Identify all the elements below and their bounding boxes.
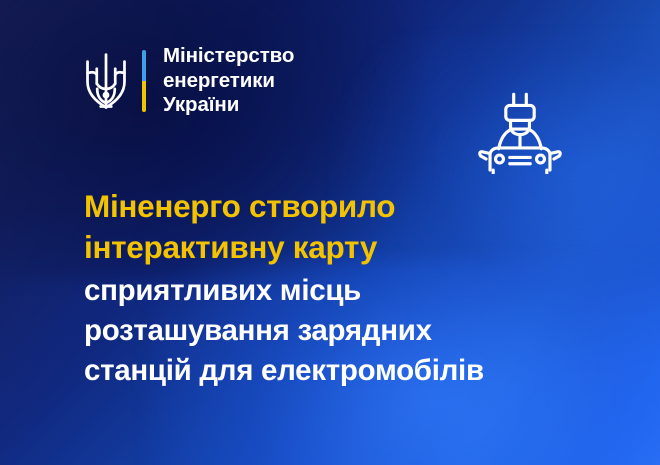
ministry-name-line-1: Міністерство xyxy=(163,44,294,67)
logo-divider-bar xyxy=(142,50,146,112)
electric-car-plug-icon xyxy=(472,92,568,174)
ministry-logo-lockup: МіністерствоенергетикиУкраїни xyxy=(84,44,294,118)
headline-body-line-2: розташування зарядних xyxy=(84,311,604,351)
headline-highlight-line-1: Міненерго створило xyxy=(84,186,604,227)
poster-canvas: МіністерствоенергетикиУкраїни xyxy=(0,0,660,465)
ukrainian-trident-icon xyxy=(84,51,128,111)
headline-body-line-3: станцій для електромобілів xyxy=(84,351,604,391)
ministry-name-line-2: енергетики xyxy=(163,69,275,92)
headline-block: Міненерго створило інтерактивну карту сп… xyxy=(84,186,604,391)
ministry-name-line-3: України xyxy=(163,93,239,116)
headline-highlight-line-2: інтерактивну карту xyxy=(84,227,604,268)
ministry-name: МіністерствоенергетикиУкраїни xyxy=(163,44,294,118)
headline-body-line-1: сприятливих місць xyxy=(84,271,604,311)
